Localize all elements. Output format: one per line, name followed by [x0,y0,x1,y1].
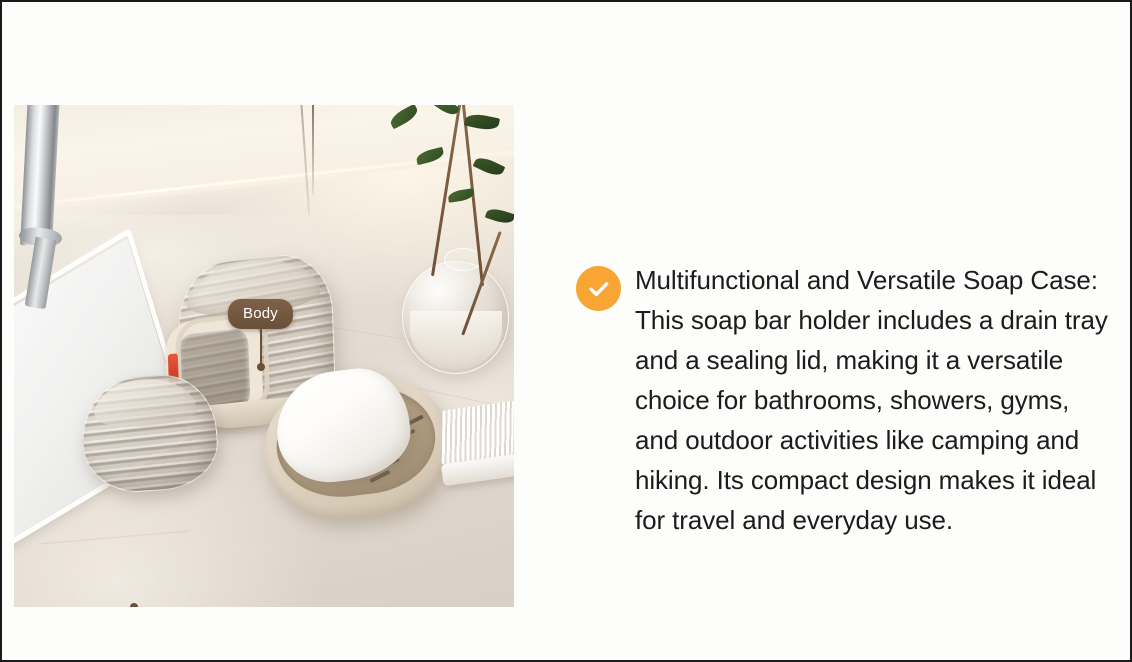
soap-case-lid [78,372,221,497]
wall-cord-line [312,105,314,195]
photo-scene-background [14,105,514,607]
product-image[interactable]: Body Lid Drain [14,105,514,607]
annotation-leader-dot [257,363,265,371]
check-circle-icon [576,266,621,311]
feature-description: Multifunctional and Versatile Soap Case:… [635,260,1116,540]
annotation-body[interactable]: Body [228,299,293,329]
plant-leaf [447,189,474,204]
annotation-leader-line [260,325,262,367]
annotation-leader-dot [130,603,138,607]
nail-brush [433,401,514,497]
feature-bullet: Multifunctional and Versatile Soap Case:… [576,260,1116,540]
feature-panel-page: Body Lid Drain Multifunctional and Versa… [0,0,1132,662]
vase-neck [444,248,482,271]
annotation-lid[interactable]: Lid [109,603,160,607]
soap-drain-tray [256,365,457,527]
